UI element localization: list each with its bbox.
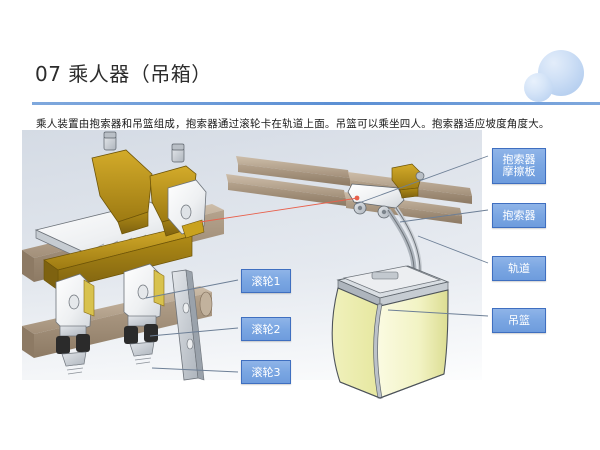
callout-line-2: 摩擦板 — [503, 166, 536, 178]
callout-roller-1[interactable]: 滚轮1 — [241, 269, 291, 293]
callout-gripper[interactable]: 抱索器 — [492, 203, 546, 228]
passenger-cabin — [332, 266, 448, 398]
header-divider — [32, 102, 600, 105]
callout-line-1: 滚轮1 — [252, 275, 281, 288]
leader-red-endpoint — [355, 196, 360, 201]
callout-cabin[interactable]: 吊篮 — [492, 308, 546, 333]
circle-small-decor-icon — [524, 73, 553, 102]
callout-track[interactable]: 轨道 — [492, 256, 546, 281]
slide-root: 07 乘人器（吊箱） 乘人装置由抱索器和吊篮组成，抱索器通过滚轮卡在轨道上面。吊… — [0, 0, 600, 450]
page-title: 07 乘人器（吊箱） — [35, 58, 212, 87]
callout-gripper-friction-plate[interactable]: 抱索器 摩擦板 — [492, 148, 546, 184]
callout-line-1: 滚轮3 — [252, 366, 281, 379]
callout-roller-2[interactable]: 滚轮2 — [241, 317, 291, 341]
callout-line-1: 轨道 — [508, 262, 530, 275]
callout-line-1: 吊篮 — [508, 314, 530, 327]
callout-roller-3[interactable]: 滚轮3 — [241, 360, 291, 384]
callout-line-1: 滚轮2 — [252, 323, 281, 336]
callout-line-1: 抱索器 — [503, 209, 536, 222]
page-subtitle: 乘人装置由抱索器和吊篮组成，抱索器通过滚轮卡在轨道上面。吊篮可以乘坐四人。抱索器… — [36, 116, 550, 131]
